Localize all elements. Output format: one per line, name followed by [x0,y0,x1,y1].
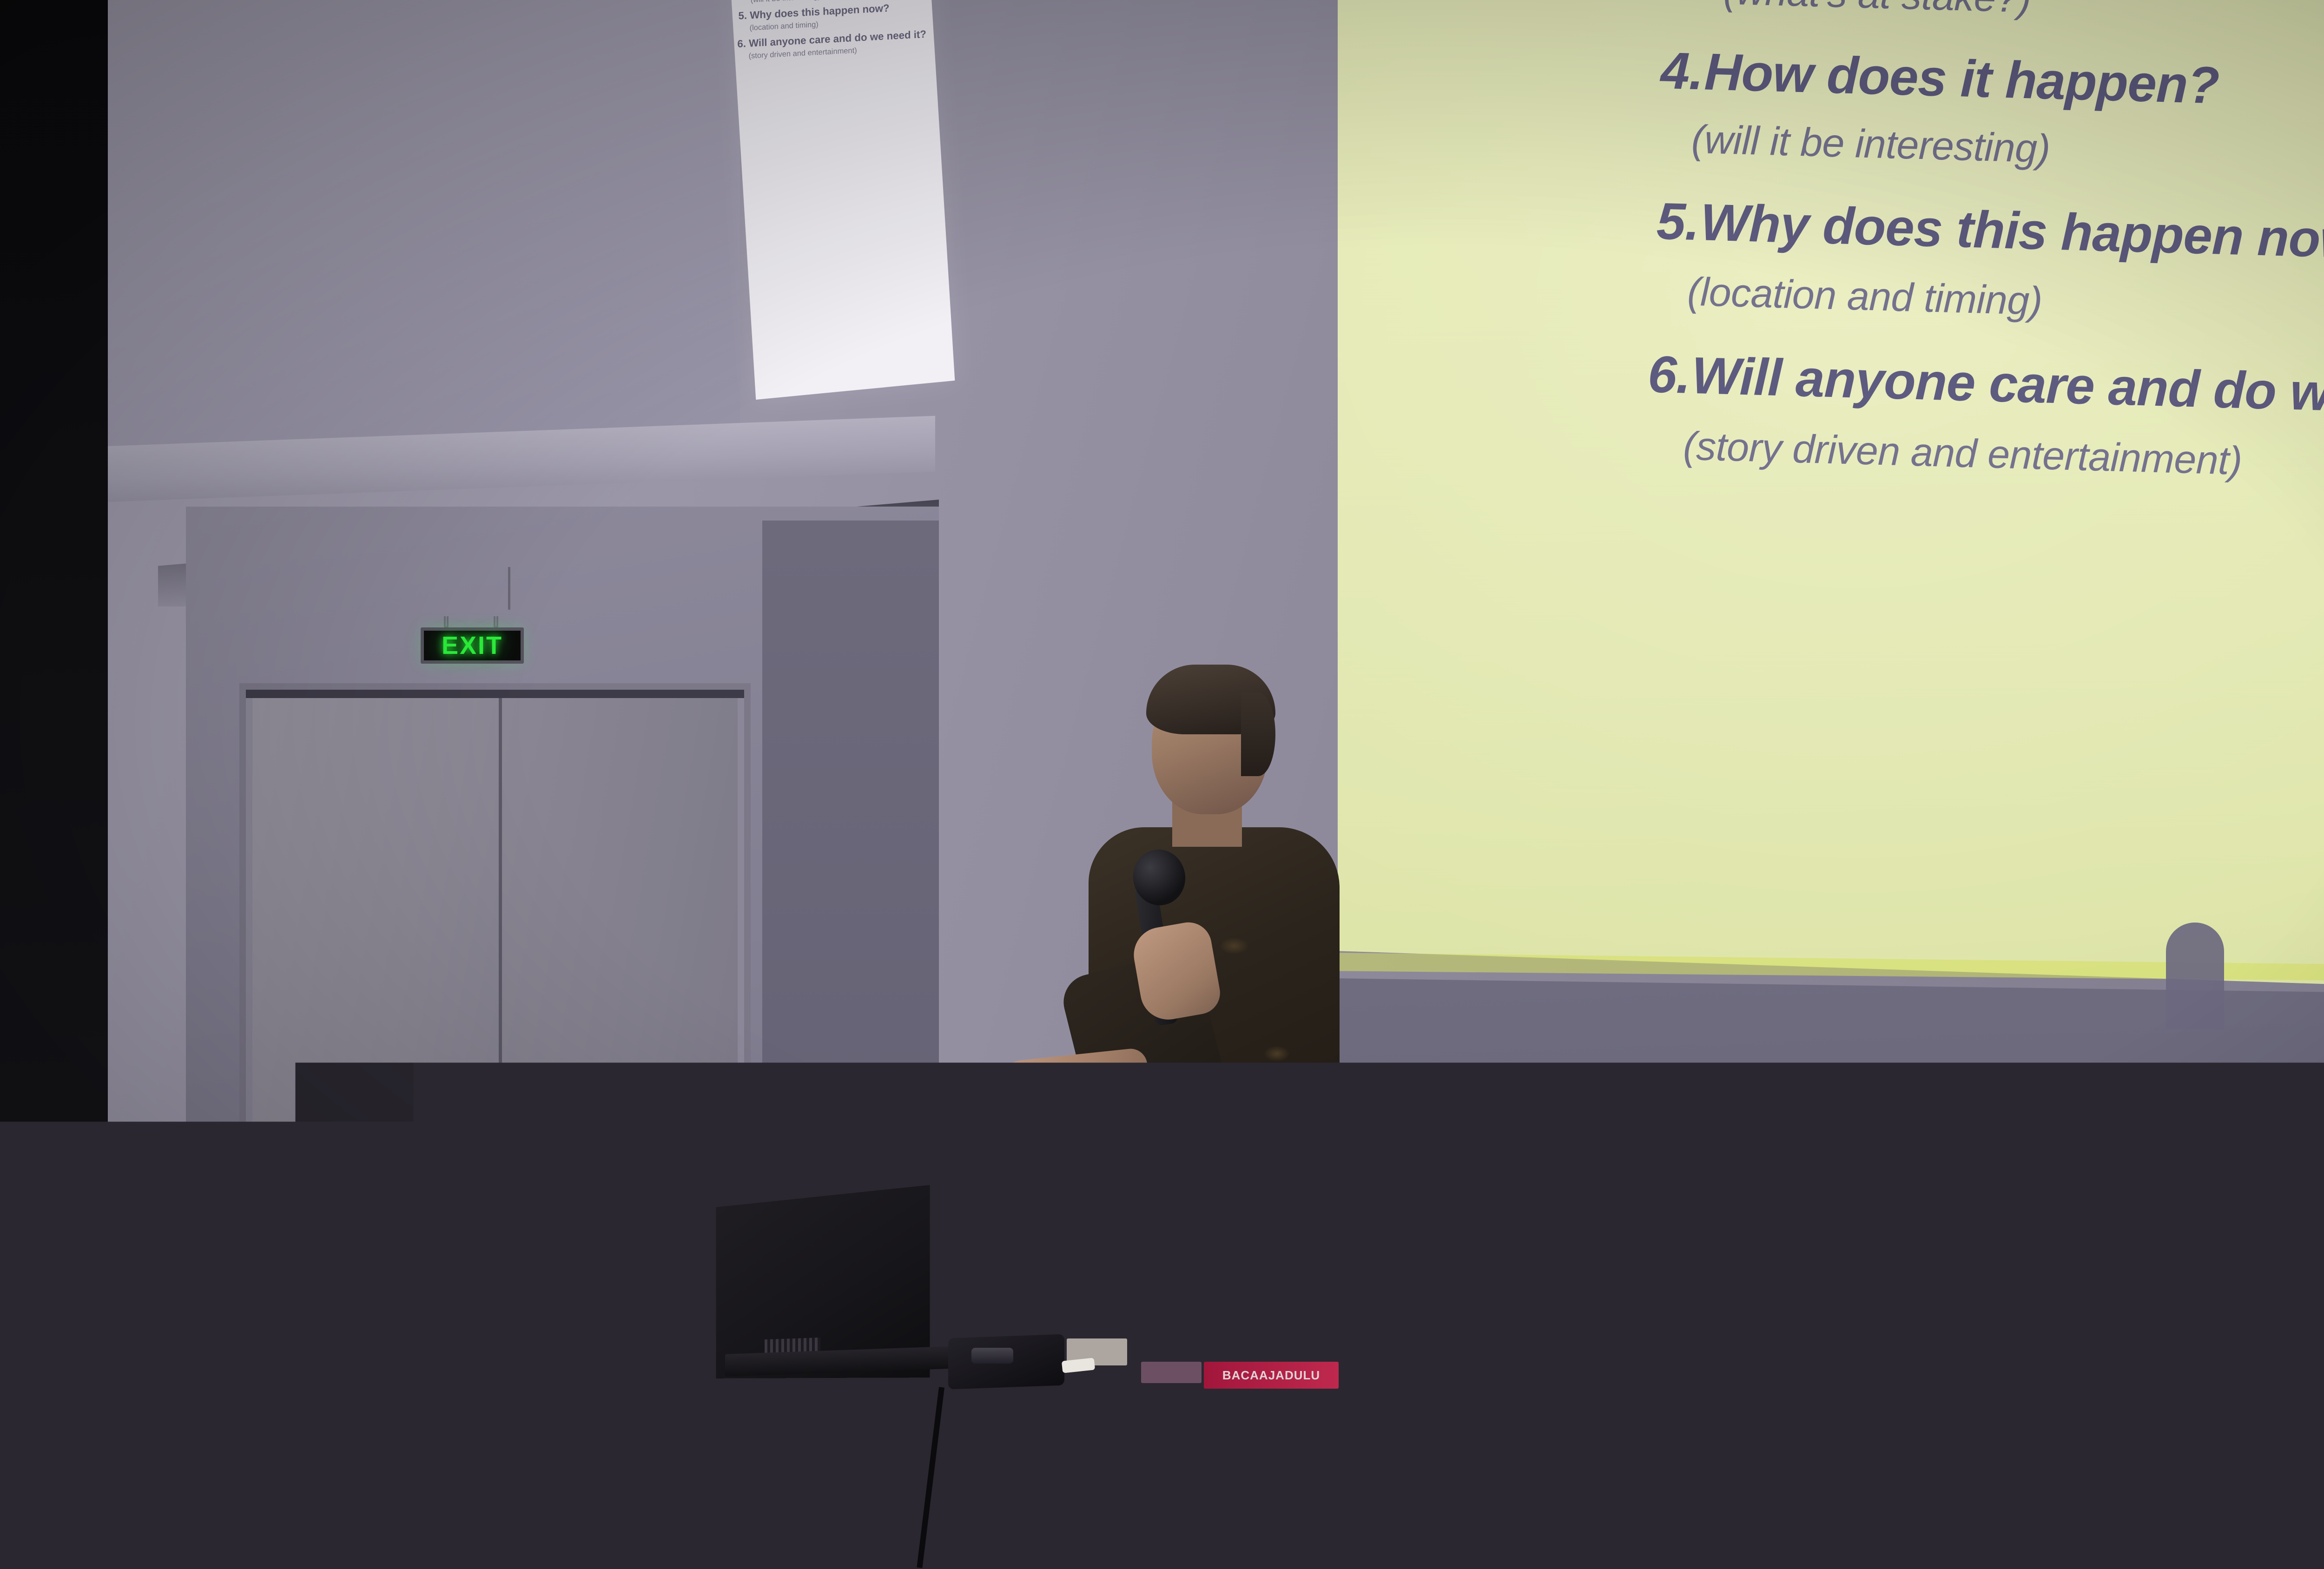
sticker-pink-label-text: BACAAJADULU [1222,1368,1320,1383]
sticker-red-icon [1283,1322,1307,1347]
sticker-triangle-icon [1260,1329,1284,1354]
sticker-pink-label: BACAAJADULU [1204,1362,1339,1389]
slide-line-5: 6.Will anyone care and do we need [1647,344,2324,427]
slide-line-0: (what's at stake?) [1723,0,2032,22]
main-projection-screen: (what's at stake?) 4.How does it happen?… [1338,0,2324,1041]
power-adapter-highlight [971,1348,1013,1364]
double-exit-door[interactable] [239,683,751,1334]
sticker-arrow-sign [1255,1213,1307,1229]
table-leg-back [646,1394,657,1534]
slide-line-6: (story driven and entertainment) [1683,423,2243,484]
sticker-rocket-icon [1308,1287,1330,1334]
foreground-furniture-base [153,1506,349,1569]
audience-head-silhouette [2166,923,2224,1029]
upper-left-wall [108,0,740,469]
door-leaf-right[interactable] [502,698,738,1334]
sticker-tall-white [1062,1239,1089,1283]
slide-content: (what's at stake?) 4.How does it happen?… [1338,0,2324,1041]
sticker-round-white [1057,1208,1083,1234]
sticker-frog-icon-lower [1222,1327,1263,1365]
exit-sign-wire [508,567,510,610]
door-center-gap [499,698,502,1334]
sticker-purple-band [1141,1362,1202,1383]
alcove-side-wall [762,521,939,1287]
projection-spill-panel: (what's at stake?) 4. How does it happen… [729,0,955,400]
slide-line-5-text: Will anyone care and do we need [1691,346,2324,426]
exit-sign-hook-right [494,616,498,628]
presenter-hair-side [1241,692,1275,776]
table-leg-right [1348,1387,1364,1569]
slide-line-1-number: 4. [1660,40,1705,101]
armchair-left-back [1511,1208,1729,1455]
slide-line-2: (will it be interesting) [1691,117,2051,172]
presentation-room-photo: (what's at stake?) 4. How does it happen… [0,0,2324,1569]
slide-line-5-number: 6. [1647,344,1692,405]
sticker-butterfly-icon [1081,1287,1123,1325]
door-handle[interactable] [455,1247,511,1259]
slide-line-3: 5.Why does this happen now? [1656,191,2324,271]
exit-sign-hook-left [444,616,449,628]
slide-line-1: 4.How does it happen? [1660,40,2219,115]
door-leaf-left[interactable] [252,698,499,1334]
slide-line-4: (location and timing) [1687,269,2043,325]
sticker-text-label [1095,1208,1149,1222]
exit-sign: EXIT [421,627,524,664]
exit-sign-label: EXIT [442,633,503,658]
slide-line-3-number: 5. [1656,191,1701,252]
projection-spill-text: (what's at stake?) 4. How does it happen… [729,0,922,389]
slide-line-1-text: How does it happen? [1703,42,2219,114]
slide-line-3-text: Why does this happen now? [1700,193,2324,270]
sticker-frog-icon-upper [1225,1229,1266,1269]
table-leg-left [560,1392,576,1569]
sticker-cat-icon [1090,1227,1122,1256]
